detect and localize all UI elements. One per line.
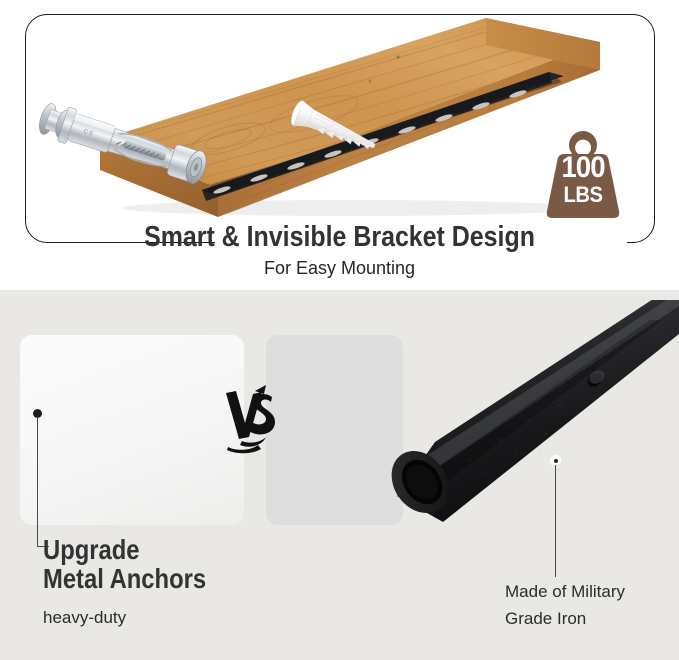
- top-headline: Smart & Invisible Bracket Design: [48, 221, 632, 254]
- plastic-wall-plug-icon: [278, 100, 398, 185]
- pipe-title-line1: Made of Military: [505, 578, 625, 605]
- metal-anchor-callout-title: Upgrade Metal Anchors: [43, 535, 206, 594]
- weight-badge: 100 LBS: [537, 127, 629, 223]
- metal-anchor-title-line1: Upgrade: [43, 535, 206, 564]
- plastic-anchor-card: [266, 335, 403, 525]
- pipe-callout-title: Made of Military Grade Iron: [505, 578, 625, 632]
- metal-anchor-callout-subtitle: heavy-duty: [43, 608, 126, 628]
- top-subheadline: For Easy Mounting: [0, 258, 679, 279]
- black-iron-pipe-icon: [390, 300, 679, 555]
- weight-badge-text: 100 LBS: [537, 153, 629, 206]
- metal-anchor-title-line2: Metal Anchors: [43, 564, 206, 593]
- versus-icon: [222, 385, 282, 460]
- pipe-callout-line: [555, 465, 556, 577]
- pipe-title-line2: Grade Iron: [505, 605, 625, 632]
- metal-expansion-anchor-icon: C E: [22, 85, 232, 220]
- weight-unit: LBS: [541, 184, 626, 206]
- metal-anchor-card: [20, 335, 244, 525]
- weight-value: 100: [541, 153, 626, 183]
- infographic-canvas: 100 LBS Smart & Invisible Bracket Design…: [0, 0, 679, 660]
- metal-anchor-callout-line-vertical: [37, 417, 38, 547]
